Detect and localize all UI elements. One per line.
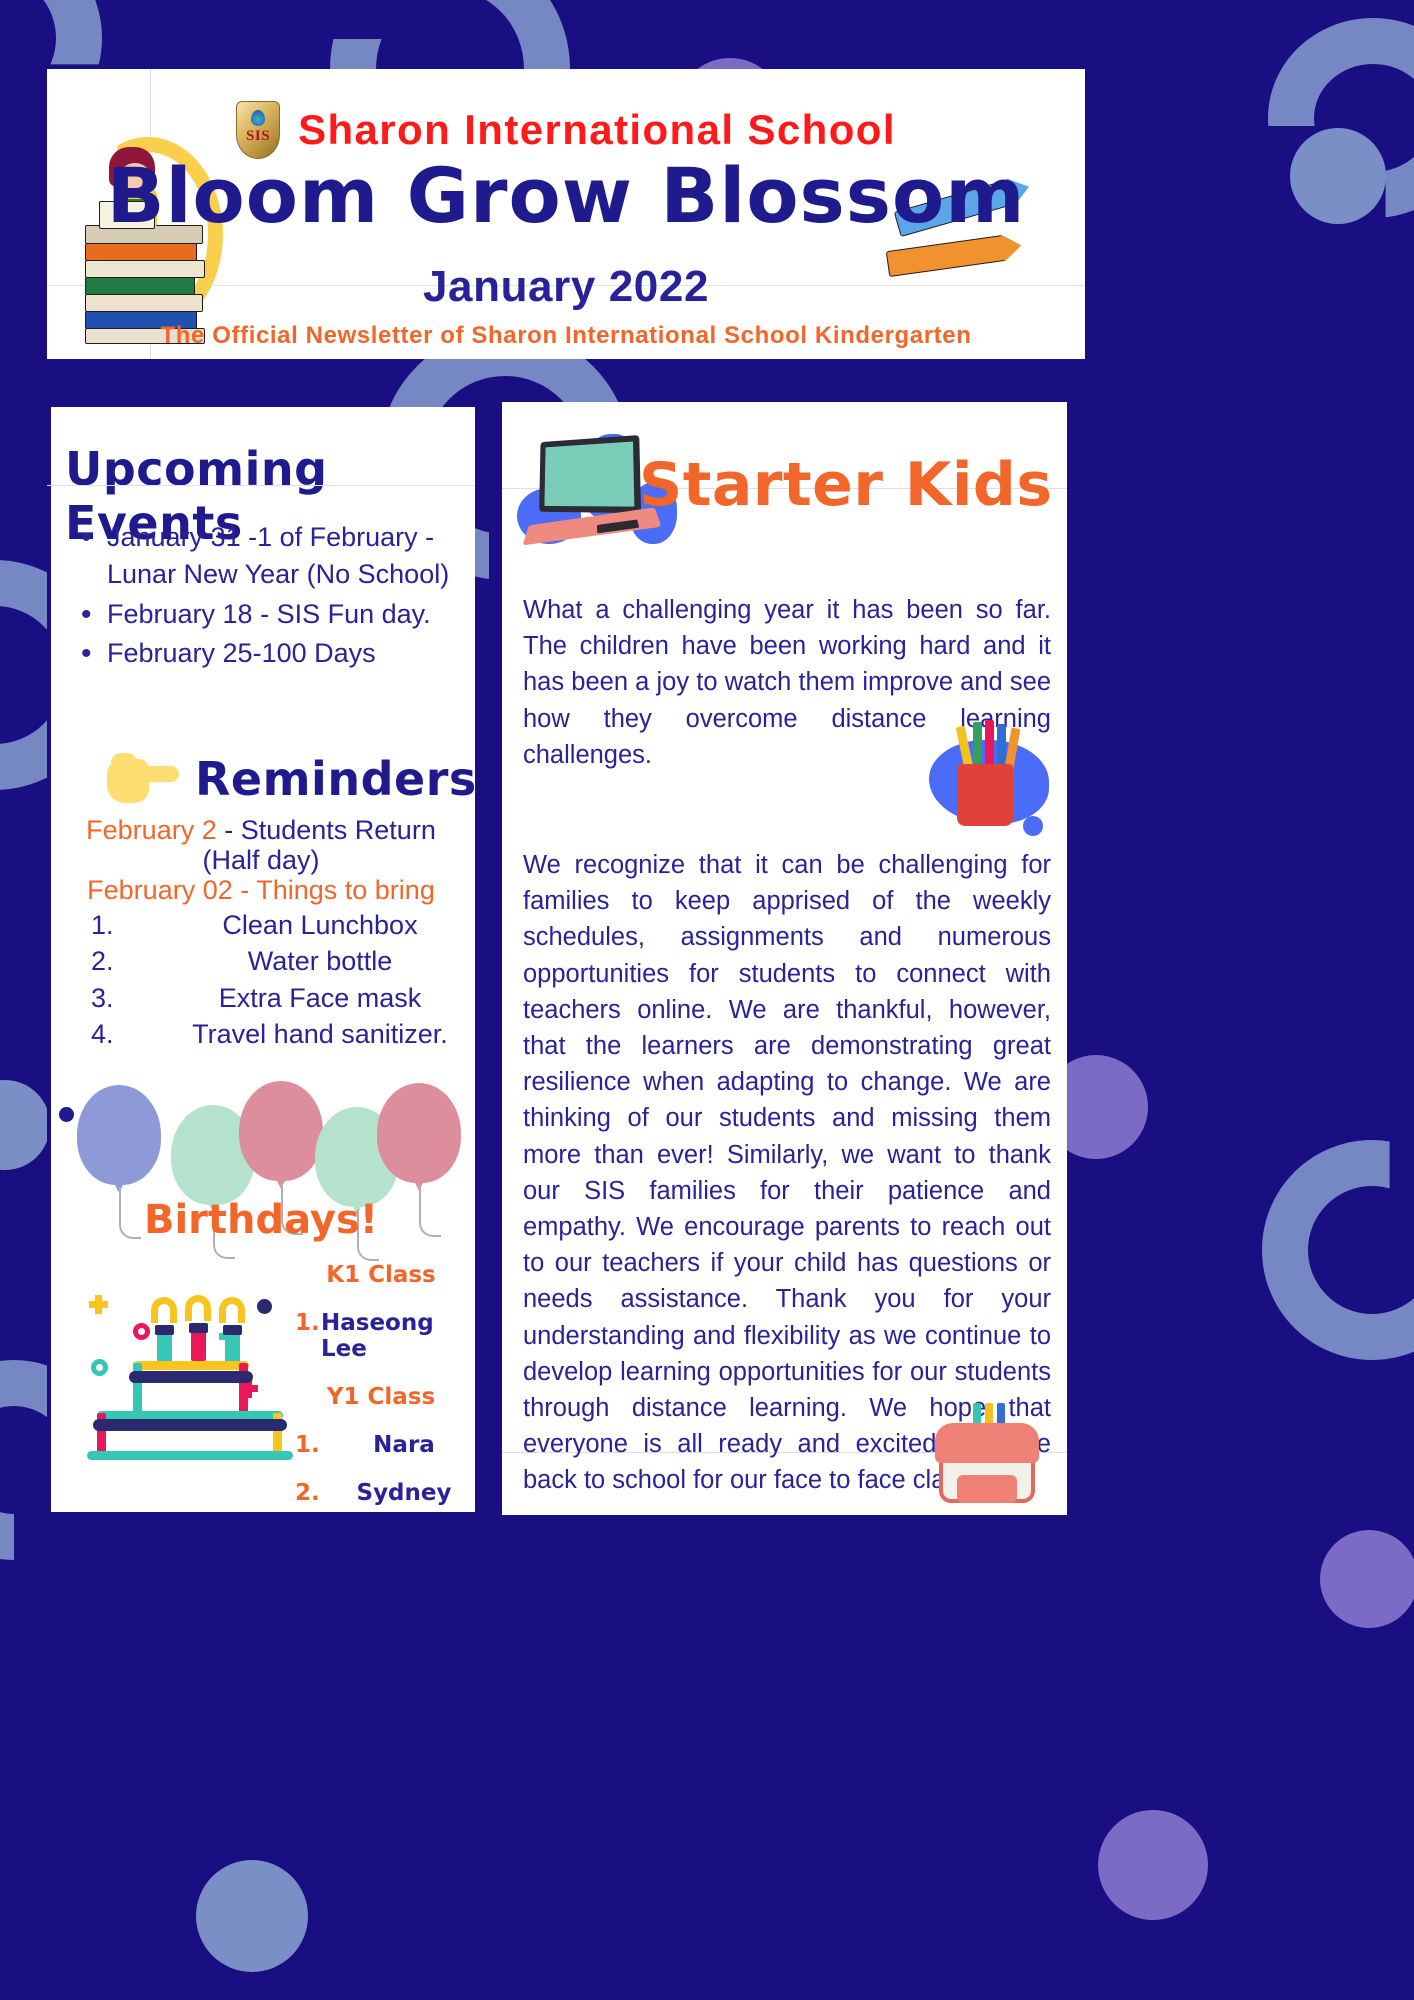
school-name: Sharon International School xyxy=(298,106,896,154)
class-label: K1 Class xyxy=(295,1262,467,1288)
things-to-bring-list: 1. Clean Lunchbox 2. Water bottle 3. Ext… xyxy=(91,907,457,1053)
list-item: 1. Haseong Lee xyxy=(295,1310,467,1362)
reminders-heading-row: Reminders xyxy=(107,752,477,806)
item-text: Water bottle xyxy=(183,943,457,979)
item-number: 1. xyxy=(295,1432,341,1458)
birthday-name-lists: K1 Class 1. Haseong Lee Y1 Class 1. Nara… xyxy=(295,1262,467,1528)
class-label: Y1 Class xyxy=(295,1384,467,1410)
item-number: 2. xyxy=(295,1480,341,1506)
birthday-cake-illustration xyxy=(87,1267,302,1457)
newsletter-header: SIS Sharon International School Bloom Gr… xyxy=(47,69,1085,359)
left-card-accent-bar xyxy=(47,407,51,1512)
list-item: 2. Water bottle xyxy=(91,943,457,979)
student-name: Nara xyxy=(341,1432,467,1458)
list-item: 1. Clean Lunchbox xyxy=(91,907,457,943)
reminder-date-1: February 2 xyxy=(86,815,217,845)
balloon-icon xyxy=(77,1085,161,1185)
item-number: 4. xyxy=(91,1016,183,1052)
item-text: Clean Lunchbox xyxy=(183,907,457,943)
balloon-icon xyxy=(377,1083,461,1183)
blue-splash-shape xyxy=(1023,816,1043,836)
left-column-card: Upcoming Events January 31 -1 of Februar… xyxy=(47,407,475,1512)
crest-flame-shape xyxy=(251,110,265,126)
right-column-card: Starter Kids What a challenging year it … xyxy=(489,402,1067,1515)
backpack-illustration xyxy=(929,1401,1049,1509)
backpack-flap xyxy=(935,1423,1039,1463)
newsletter-page: SIS Sharon International School Bloom Gr… xyxy=(0,0,1414,2000)
reminders-title: Reminders xyxy=(195,752,477,806)
issue-date: January 2022 xyxy=(47,262,1085,312)
list-item: 3. Extra Face mask xyxy=(91,980,457,1016)
list-item: January 31 -1 of February - Lunar New Ye… xyxy=(69,519,461,594)
pencil-cup-illustration xyxy=(911,720,1061,835)
birthdays-title: Birthdays! xyxy=(47,1197,475,1243)
student-name: Haseong Lee xyxy=(321,1310,467,1362)
list-item: February 18 - SIS Fun day. xyxy=(69,596,461,633)
crest-initials: SIS xyxy=(236,128,280,145)
item-text: Travel hand sanitizer. xyxy=(183,1016,457,1052)
newsletter-tagline: The Official Newsletter of Sharon Intern… xyxy=(47,322,1085,350)
right-card-accent-bar xyxy=(489,402,502,1515)
item-text: Extra Face mask xyxy=(183,980,457,1016)
list-item: 1. Nara xyxy=(295,1432,467,1458)
section-divider xyxy=(47,485,475,486)
item-number: 3. xyxy=(91,980,183,1016)
item-number: 1. xyxy=(91,907,183,943)
newsletter-masthead-title: Bloom Grow Blossom xyxy=(47,151,1085,240)
reminder-line-1: February 2 - Students Return (Half day) xyxy=(57,815,465,875)
upcoming-events-list: January 31 -1 of February - Lunar New Ye… xyxy=(69,519,461,674)
list-item: 2. Sydney xyxy=(295,1480,467,1506)
item-number: 2. xyxy=(91,943,183,979)
pencil-cup xyxy=(957,764,1013,826)
reminders-text-block: February 2 - Students Return (Half day) … xyxy=(57,815,465,906)
reminder-detail-1: - Students Return (Half day) xyxy=(202,815,435,875)
balloon-icon xyxy=(239,1081,323,1181)
student-name: Sydney xyxy=(341,1480,467,1506)
starter-kids-title: Starter Kids xyxy=(639,450,1053,520)
reminder-line-2: February 02 - Things to bring xyxy=(57,875,465,905)
pointing-hand-icon xyxy=(107,753,179,805)
laptop-screen xyxy=(539,435,641,513)
list-item: 4. Travel hand sanitizer. xyxy=(91,1016,457,1052)
backpack-pocket xyxy=(957,1475,1017,1503)
list-item: February 25-100 Days xyxy=(69,635,461,672)
navy-dot-icon xyxy=(59,1107,74,1122)
item-number: 1. xyxy=(295,1310,321,1336)
